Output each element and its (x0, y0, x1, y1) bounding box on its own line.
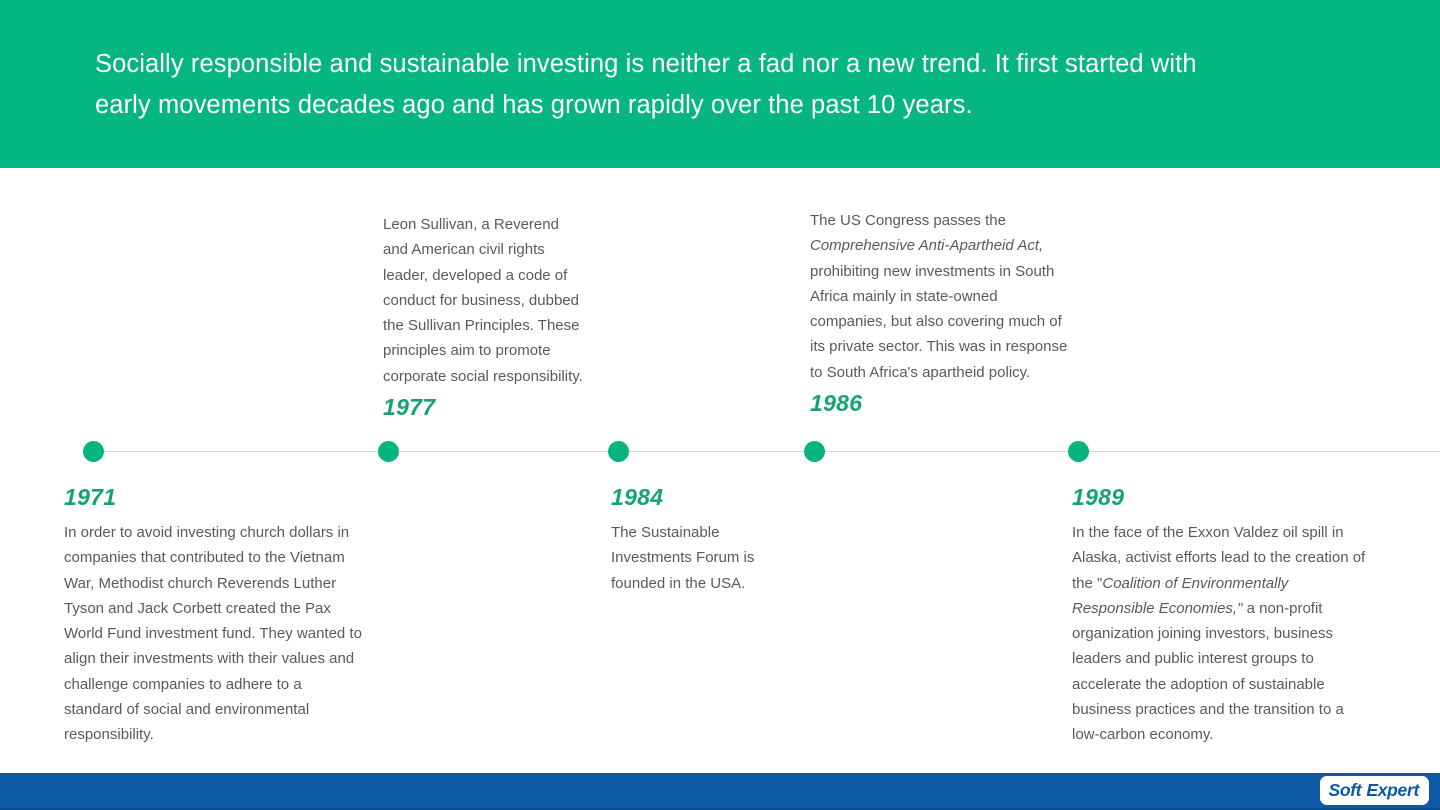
milestone-1986-body-part-2: prohibiting new investments in South Afr… (810, 263, 1067, 381)
milestone-1986-act-title: Comprehensive Anti-Apartheid Act, (810, 237, 1043, 254)
milestone-1989-body-part-2: a non-profit organization joining invest… (1072, 600, 1344, 743)
footer-bar: Soft Expert ® (0, 773, 1440, 810)
timeline-dot-1984[interactable] (608, 441, 629, 462)
logo-soft-text: Soft (1329, 780, 1362, 801)
timeline-axis-line (94, 451, 1440, 452)
header-headline: Socially responsible and sustainable inv… (95, 44, 1255, 126)
milestone-1989: 1989 In the face of the Exxon Valdez oil… (1072, 484, 1372, 748)
milestone-1977-year: 1977 (383, 394, 588, 421)
milestone-1971-body: In order to avoid investing church dolla… (64, 520, 364, 748)
registered-trademark-icon: ® (1419, 778, 1424, 785)
milestone-1986-body-part-1: The US Congress passes the (810, 212, 1006, 229)
milestone-1984: 1984 The Sustainable Investments Forum i… (611, 484, 766, 596)
header-banner: Socially responsible and sustainable inv… (0, 0, 1440, 168)
milestone-1984-body: The Sustainable Investments Forum is fou… (611, 520, 766, 596)
milestone-1989-year: 1989 (1072, 484, 1372, 511)
milestone-1989-body: In the face of the Exxon Valdez oil spil… (1072, 520, 1372, 748)
timeline-dot-1977[interactable] (378, 441, 399, 462)
milestone-1977: Leon Sullivan, a Reverend and American c… (383, 212, 588, 421)
milestone-1977-body: Leon Sullivan, a Reverend and American c… (383, 212, 588, 389)
milestone-1971: 1971 In order to avoid investing church … (64, 484, 364, 748)
timeline-dot-1971[interactable] (83, 441, 104, 462)
softexpert-logo[interactable]: Soft Expert ® (1321, 777, 1429, 804)
milestone-1984-year: 1984 (611, 484, 766, 511)
timeline-stage: Leon Sullivan, a Reverend and American c… (0, 168, 1440, 773)
milestone-1986-year: 1986 (810, 390, 1068, 417)
milestone-1971-year: 1971 (64, 484, 364, 511)
milestone-1986: The US Congress passes the Comprehensive… (810, 208, 1068, 417)
logo-expert-text: Expert (1366, 780, 1419, 801)
milestone-1986-body: The US Congress passes the Comprehensive… (810, 208, 1068, 385)
timeline-dot-1989[interactable] (1068, 441, 1089, 462)
timeline-dot-1986[interactable] (804, 441, 825, 462)
